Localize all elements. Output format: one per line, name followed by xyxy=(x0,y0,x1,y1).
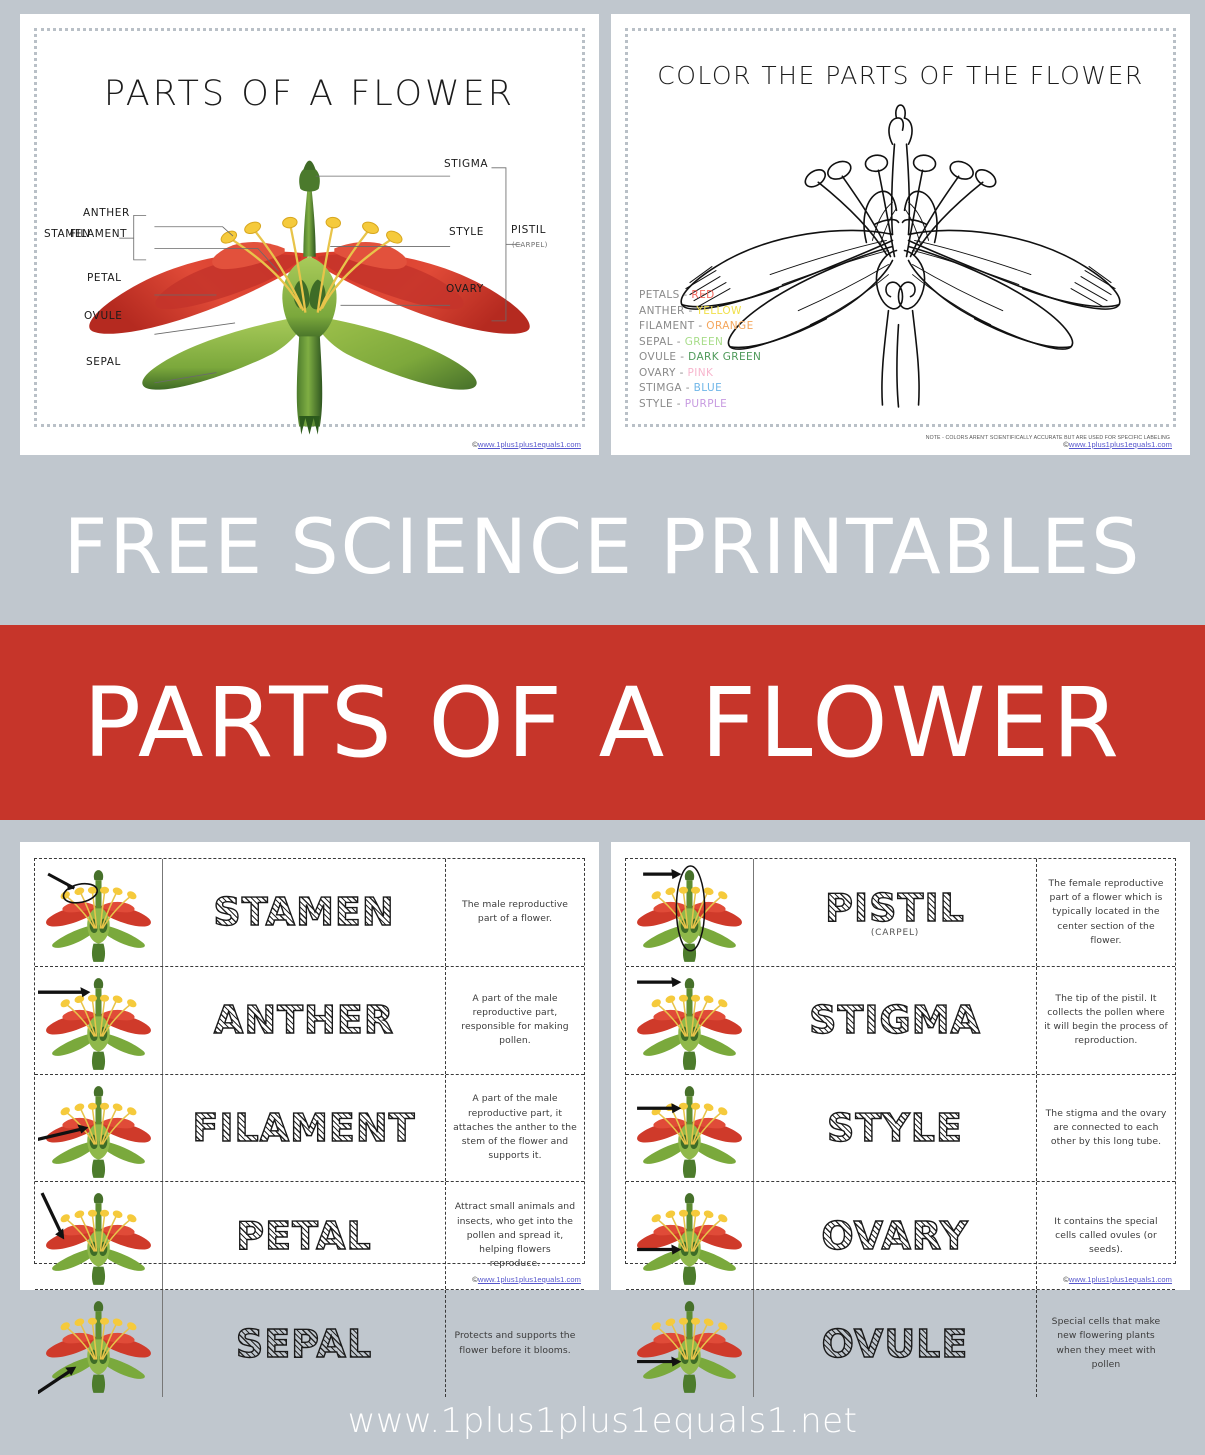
color-key-value: PURPLE xyxy=(685,398,728,410)
copyright-notice[interactable]: ©www.1plus1plus1equals1.com xyxy=(1063,1275,1172,1284)
color-key-part: SEPAL xyxy=(639,336,673,348)
color-key-item: PETALS - RED xyxy=(639,289,761,301)
vocabulary-word-cell: STAMEN STAMEN xyxy=(163,859,446,966)
flower-thumbnail xyxy=(626,967,754,1074)
table-row[interactable]: STAMEN STAMEN The male reproductive part… xyxy=(35,859,584,967)
table-row[interactable]: FILAMENT FILAMENT A part of the male rep… xyxy=(35,1075,584,1183)
color-key-part: OVARY xyxy=(639,367,676,379)
flower-diagram: STAMEN ANTHER FILAMENT PETAL OVULE SEPAL… xyxy=(20,124,599,435)
table-row[interactable]: STIGMA STIGMA The tip of the pistil. It … xyxy=(626,967,1175,1075)
color-key-item: FILAMENT - ORANGE xyxy=(639,320,761,332)
definition-cell: The stigma and the ovary are connected t… xyxy=(1037,1075,1175,1182)
definition-cell: Special cells that make new flowering pl… xyxy=(1037,1290,1175,1397)
flower-thumb-icon xyxy=(629,862,750,963)
flower-thumbnail xyxy=(626,1182,754,1289)
vocabulary-word-cell: OVARY OVARY xyxy=(754,1182,1037,1289)
color-key-dash: - xyxy=(688,305,692,317)
copyright-notice[interactable]: ©www.1plus1plus1equals1.com xyxy=(472,440,581,449)
color-key-item: OVULE - DARK GREEN xyxy=(639,351,761,363)
copyright-link[interactable]: www.1plus1plus1equals1.com xyxy=(478,440,581,449)
definition-text: A part of the male reproductive part, it… xyxy=(453,1092,577,1163)
color-key-value: ORANGE xyxy=(706,320,753,332)
label-pistil: PISTIL xyxy=(511,224,546,236)
vocabulary-word-cell: FILAMENT FILAMENT xyxy=(163,1075,446,1182)
vocabulary-word: OVULE xyxy=(822,1322,969,1366)
color-key-value: BLUE xyxy=(694,382,722,394)
vocabulary-word-cell: SEPAL SEPAL xyxy=(163,1290,446,1397)
definition-cell: Protects and supports the flower before … xyxy=(446,1290,584,1397)
color-key-part: PETALS xyxy=(639,289,680,301)
color-key-item: SEPAL - GREEN xyxy=(639,336,761,348)
color-key-value: DARK GREEN xyxy=(688,351,761,363)
flower-thumb-icon xyxy=(629,1185,750,1286)
page-title: COLOR THE PARTS OF THE FLOWER xyxy=(625,61,1176,90)
flower-thumb-icon xyxy=(629,970,750,1071)
flower-thumb-icon xyxy=(38,1185,159,1286)
definition-cell: The male reproductive part of a flower. xyxy=(446,859,584,966)
cards-row: STAMEN STAMEN The male reproductive part… xyxy=(0,820,1205,1290)
definition-cell: Attract small animals and insects, who g… xyxy=(446,1182,584,1289)
color-key-dash: - xyxy=(683,289,687,301)
definition-cell: A part of the male reproductive part, re… xyxy=(446,967,584,1074)
banner-parts-of-a-flower: PARTS OF A FLOWER xyxy=(0,625,1205,820)
color-key-value: PINK xyxy=(688,367,714,379)
color-key-dash: - xyxy=(680,351,684,363)
definition-text: The tip of the pistil. It collects the p… xyxy=(1044,992,1168,1049)
definition-cell: The tip of the pistil. It collects the p… xyxy=(1037,967,1175,1074)
flower-thumbnail xyxy=(626,1290,754,1397)
label-ovule: OVULE xyxy=(84,310,122,322)
definition-text: The male reproductive part of a flower. xyxy=(453,898,577,927)
copyright-notice[interactable]: ©www.1plus1plus1equals1.com xyxy=(1063,440,1172,449)
flower-thumbnail xyxy=(626,859,754,966)
vocabulary-word-cell: OVULE OVULE xyxy=(754,1290,1037,1397)
flower-thumbnail xyxy=(35,1182,163,1289)
color-key-dash: - xyxy=(677,398,681,410)
vocabulary-word: SEPAL xyxy=(236,1322,372,1366)
flower-thumb-icon xyxy=(629,1078,750,1179)
copyright-notice[interactable]: ©www.1plus1plus1equals1.com xyxy=(472,1275,581,1284)
definition-text: The stigma and the ovary are connected t… xyxy=(1044,1107,1168,1150)
vocabulary-word-cell: PISTIL PISTIL (CARPEL) xyxy=(754,859,1037,966)
vocabulary-word-cell: STIGMA STIGMA xyxy=(754,967,1037,1074)
definition-text: Attract small animals and insects, who g… xyxy=(453,1200,577,1271)
color-key-value: YELLOW xyxy=(696,305,741,317)
label-sepal: SEPAL xyxy=(86,356,121,368)
flower-thumbnail xyxy=(35,967,163,1074)
color-key-item: ANTHER - YELLOW xyxy=(639,305,761,317)
definition-text: It contains the special cells called ovu… xyxy=(1044,1215,1168,1258)
definition-text: Protects and supports the flower before … xyxy=(453,1329,577,1358)
color-key-value: RED xyxy=(691,289,714,301)
color-key-item: STYLE - PURPLE xyxy=(639,398,761,410)
flower-thumb-icon xyxy=(38,970,159,1071)
page-title: PARTS OF A FLOWER xyxy=(34,74,585,114)
footer-url[interactable]: www.1plus1plus1equals1.net xyxy=(0,1401,1205,1441)
label-anther: ANTHER xyxy=(83,207,130,219)
vocabulary-word-cell: STYLE STYLE xyxy=(754,1075,1037,1182)
copyright-link[interactable]: www.1plus1plus1equals1.com xyxy=(1069,440,1172,449)
banner-title: PARTS OF A FLOWER xyxy=(83,675,1122,771)
printable-parts-of-a-flower[interactable]: PARTS OF A FLOWER xyxy=(20,14,599,455)
definition-cell: It contains the special cells called ovu… xyxy=(1037,1182,1175,1289)
color-key-part: FILAMENT xyxy=(639,320,695,332)
label-ovary: OVARY xyxy=(446,283,484,295)
definition-text: Special cells that make new flowering pl… xyxy=(1044,1315,1168,1372)
definition-text: A part of the male reproductive part, re… xyxy=(453,992,577,1049)
flower-thumbnail xyxy=(35,1290,163,1397)
color-key-value: GREEN xyxy=(685,336,724,348)
definition-text: The female reproductive part of a flower… xyxy=(1044,877,1168,948)
label-stigma: STIGMA xyxy=(444,158,488,170)
copyright-link[interactable]: www.1plus1plus1equals1.com xyxy=(1069,1275,1172,1284)
color-key-item: OVARY - PINK xyxy=(639,367,761,379)
definition-cell: A part of the male reproductive part, it… xyxy=(446,1075,584,1182)
table-row[interactable]: OVULE OVULE Special cells that make new … xyxy=(626,1290,1175,1397)
label-carpel: (CARPEL) xyxy=(512,241,548,249)
vocabulary-word-cell: PETAL PETAL xyxy=(163,1182,446,1289)
flower-thumb-icon xyxy=(38,1293,159,1394)
flower-thumbnail xyxy=(35,1075,163,1182)
vocabulary-word: FILAMENT xyxy=(192,1106,415,1150)
color-key-list: PETALS - RED ANTHER - YELLOW FILAMENT - … xyxy=(639,289,761,413)
vocabulary-cards-left[interactable]: STAMEN STAMEN The male reproductive part… xyxy=(20,842,599,1290)
copyright-link[interactable]: www.1plus1plus1equals1.com xyxy=(478,1275,581,1284)
color-key-dash: - xyxy=(698,320,702,332)
color-key-part: ANTHER xyxy=(639,305,685,317)
vocabulary-word: PETAL xyxy=(236,1214,371,1258)
vocabulary-word: PISTIL xyxy=(825,886,965,930)
color-key-dash: - xyxy=(677,336,681,348)
table-row[interactable]: PISTIL PISTIL (CARPEL) The female reprod… xyxy=(626,859,1175,967)
vocabulary-word: OVARY xyxy=(821,1214,968,1258)
flower-thumb-icon xyxy=(38,862,159,963)
vocabulary-word: STIGMA xyxy=(809,998,981,1042)
color-key-dash: - xyxy=(686,382,690,394)
color-key-part: STIMGA xyxy=(639,382,682,394)
table-row[interactable]: STYLE STYLE The stigma and the ovary are… xyxy=(626,1075,1175,1183)
label-filament: FILAMENT xyxy=(70,228,127,240)
flower-thumbnail xyxy=(626,1075,754,1182)
table-row[interactable]: ANTHER ANTHER A part of the male reprodu… xyxy=(35,967,584,1075)
card-grid: PISTIL PISTIL (CARPEL) The female reprod… xyxy=(625,858,1176,1264)
table-row[interactable]: SEPAL SEPAL Protects and supports the fl… xyxy=(35,1290,584,1397)
card-grid: STAMEN STAMEN The male reproductive part… xyxy=(34,858,585,1264)
label-petal: PETAL xyxy=(87,272,122,284)
vocabulary-cards-right[interactable]: PISTIL PISTIL (CARPEL) The female reprod… xyxy=(611,842,1190,1290)
definition-cell: The female reproductive part of a flower… xyxy=(1037,859,1175,966)
vocabulary-word-cell: ANTHER ANTHER xyxy=(163,967,446,1074)
vocabulary-word: ANTHER xyxy=(214,998,394,1042)
label-style: STYLE xyxy=(449,226,484,238)
printable-color-the-flower[interactable]: COLOR THE PARTS OF THE FLOWER xyxy=(611,14,1190,455)
headline-free-science-printables: FREE SCIENCE PRINTABLES xyxy=(0,467,1205,625)
flower-thumbnail xyxy=(35,859,163,966)
color-key-dash: - xyxy=(680,367,684,379)
vocabulary-word: STYLE xyxy=(827,1106,963,1150)
vocabulary-word: STAMEN xyxy=(213,890,394,934)
color-key-item: STIMGA - BLUE xyxy=(639,382,761,394)
flower-thumb-icon xyxy=(38,1078,159,1179)
printables-row: PARTS OF A FLOWER xyxy=(0,0,1205,455)
color-key-part: OVULE xyxy=(639,351,676,363)
color-key-part: STYLE xyxy=(639,398,673,410)
flower-thumb-icon xyxy=(629,1293,750,1394)
